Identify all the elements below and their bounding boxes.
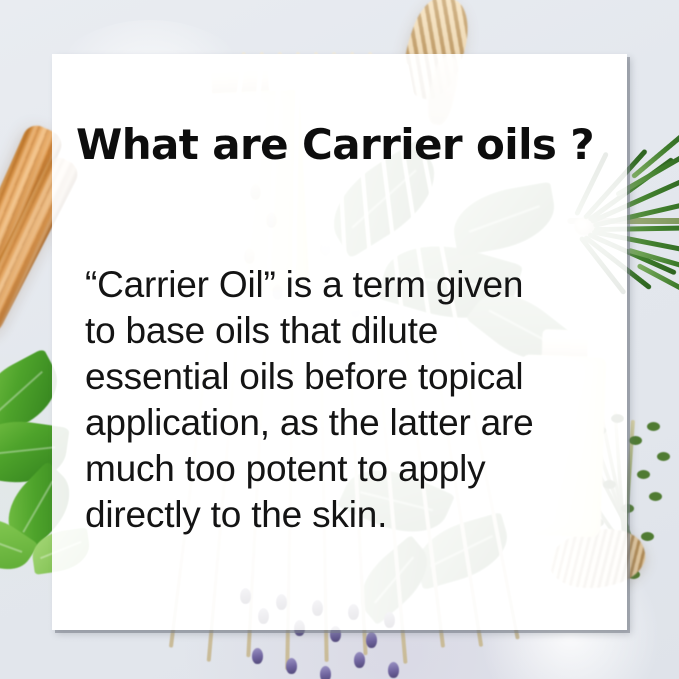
body-line: to base oils that dilute xyxy=(85,308,615,354)
page-title: What are Carrier oils ? xyxy=(76,120,594,169)
body-line: much too potent to apply xyxy=(85,446,615,492)
content-card: What are Carrier oils ? “Carrier Oil” is… xyxy=(52,54,627,630)
body-line: application, as the latter are xyxy=(85,400,615,446)
body-line: essential oils before topical xyxy=(85,354,615,400)
infographic-canvas: What are Carrier oils ? “Carrier Oil” is… xyxy=(0,0,679,679)
card-text-wrapper: What are Carrier oils ? “Carrier Oil” is… xyxy=(52,54,627,630)
body-paragraph: “Carrier Oil” is a term given to base oi… xyxy=(85,262,615,538)
body-line: “Carrier Oil” is a term given xyxy=(85,262,615,308)
body-line: directly to the skin. xyxy=(85,492,615,538)
